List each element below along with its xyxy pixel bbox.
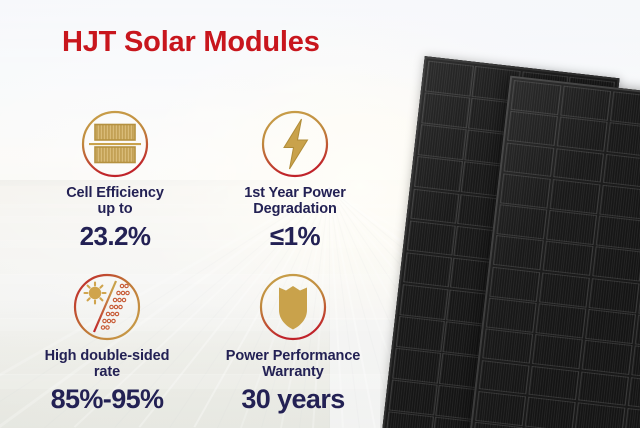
feature-value: 85%-95% xyxy=(12,386,202,413)
icon-container xyxy=(12,268,202,346)
feature-value: ≤1% xyxy=(200,223,390,249)
module-cell xyxy=(525,397,576,428)
module-cell xyxy=(624,408,640,428)
module-cell xyxy=(602,153,640,188)
module-cell xyxy=(500,173,551,208)
feature-label-line1: High double-sided xyxy=(45,348,170,364)
bifacial-sun-icon xyxy=(72,272,142,342)
module-cell xyxy=(396,316,445,352)
module-cell xyxy=(532,334,583,369)
module-cell xyxy=(503,142,554,177)
feature-double-sided-rate: High double-sided rate 85%-95% xyxy=(12,268,202,413)
feature-label: 1st Year Power Degradation xyxy=(200,185,390,217)
feature-power-performance-warranty: Power Performance Warranty 30 years xyxy=(198,268,388,413)
icon-container xyxy=(198,268,388,346)
solar-panel-modules-photo xyxy=(380,0,640,428)
module-cell xyxy=(486,298,537,333)
feature-label: Cell Efficiency up to xyxy=(20,185,210,217)
module-cell xyxy=(507,111,558,146)
feature-cell-efficiency: Cell Efficiency up to 23.2% xyxy=(20,105,210,249)
module-cell xyxy=(539,272,590,307)
icon-container xyxy=(200,105,390,183)
module-cell xyxy=(528,365,579,400)
feature-label-line2: up to xyxy=(98,201,133,217)
hjt-solar-modules-banner: HJT Solar Modules xyxy=(0,0,640,428)
module-cell xyxy=(389,380,438,416)
module-cell xyxy=(610,91,640,126)
module-cell xyxy=(553,148,604,183)
module-cell xyxy=(475,391,526,426)
module-cell xyxy=(482,329,533,364)
module-cell xyxy=(489,267,540,302)
module-cell xyxy=(549,179,600,214)
module-cell xyxy=(410,188,459,224)
feature-label-line1: Power Performance xyxy=(226,348,361,364)
module-cell xyxy=(392,348,441,384)
module-cell xyxy=(606,122,640,157)
shield-icon xyxy=(258,272,328,342)
module-cell xyxy=(627,377,640,412)
feature-first-year-degradation: 1st Year Power Degradation ≤1% xyxy=(200,105,390,249)
module-cell xyxy=(425,61,474,97)
feature-label-line2: rate xyxy=(94,364,120,380)
module-cell xyxy=(493,235,544,270)
feature-label: Power Performance Warranty xyxy=(198,348,388,380)
module-cell xyxy=(560,86,611,121)
module-cell xyxy=(496,204,547,239)
feature-label-line1: Cell Efficiency xyxy=(66,185,164,201)
feature-value: 30 years xyxy=(198,386,388,413)
module-cell xyxy=(556,117,607,152)
module-cell xyxy=(631,346,640,381)
module-cell xyxy=(479,360,530,395)
module-cell xyxy=(403,252,452,288)
icon-container xyxy=(20,105,210,183)
module-cell xyxy=(546,210,597,245)
feature-label-line1: 1st Year Power xyxy=(244,185,346,201)
module-cell xyxy=(418,124,467,160)
module-cell xyxy=(578,371,629,406)
module-cell xyxy=(585,309,636,344)
module-cell xyxy=(592,247,640,282)
module-cell xyxy=(414,156,463,192)
solar-cell-icon xyxy=(80,109,150,179)
module-cell xyxy=(535,303,586,338)
feature-value: 23.2% xyxy=(20,223,210,249)
feature-label-line2: Warranty xyxy=(262,364,324,380)
module-cell xyxy=(510,80,561,115)
lightning-bolt-icon xyxy=(260,109,330,179)
feature-label-line2: Degradation xyxy=(253,201,337,217)
module-cell xyxy=(407,220,456,256)
module-cell xyxy=(421,93,470,129)
module-cell xyxy=(574,402,625,428)
module-cell xyxy=(588,278,639,313)
module-cell xyxy=(595,216,640,251)
module-cell xyxy=(581,340,632,375)
module-cell xyxy=(399,284,448,320)
module-cell xyxy=(542,241,593,276)
module-cell xyxy=(599,185,640,220)
feature-label: High double-sided rate xyxy=(12,348,202,380)
page-title: HJT Solar Modules xyxy=(62,26,320,59)
